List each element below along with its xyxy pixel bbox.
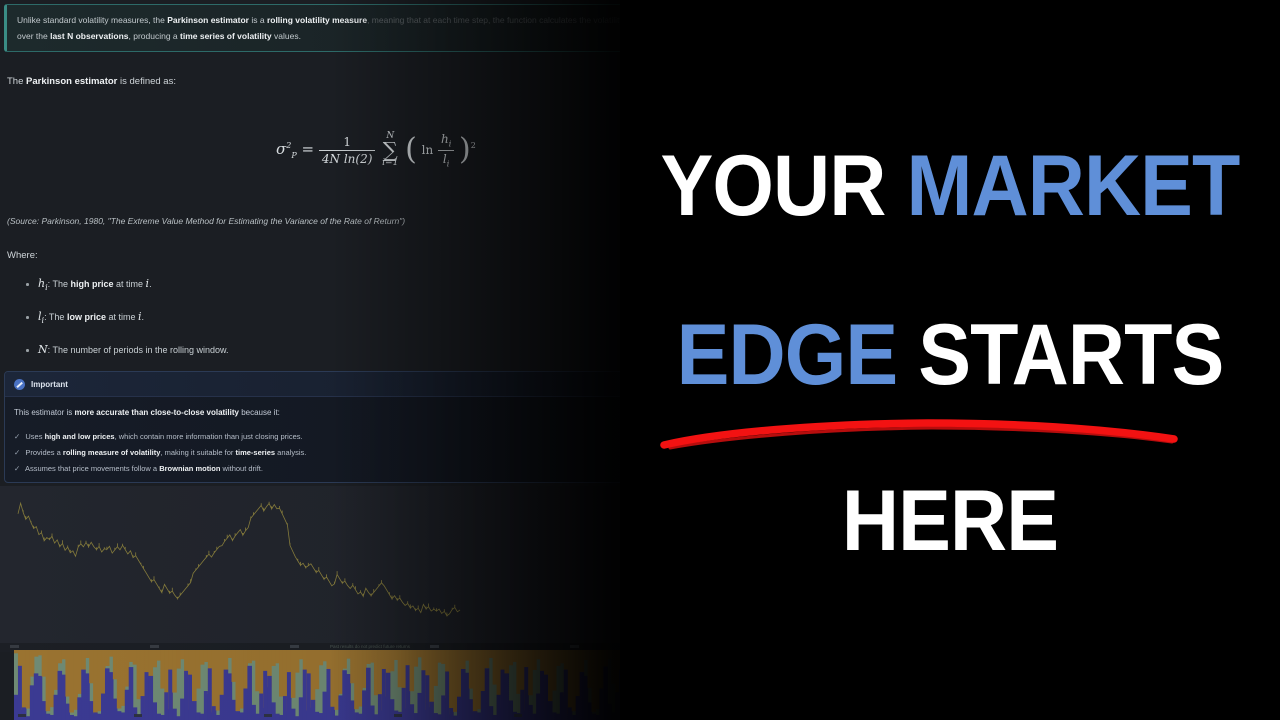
variable-desc-a: : The number of periods in the rolling w…	[48, 345, 229, 355]
important-callout-header: Important	[5, 372, 709, 397]
variable-definitions-list: hi: The high price at time i. li: The lo…	[24, 278, 229, 373]
variable-desc-c: at time	[114, 279, 146, 289]
list-item: li: The low price at time i.	[24, 311, 229, 327]
red-brush-underline-svg	[660, 415, 1180, 455]
headline-word-edge: EDGE	[677, 307, 898, 403]
note-line2-seg3: values.	[272, 31, 301, 41]
headline-line-2: EDGE STARTS	[646, 312, 1253, 398]
formula-ratio-denominator: li	[438, 151, 454, 168]
check-icon: ✓	[14, 464, 20, 473]
important-checklist: ✓ Uses high and low prices, which contai…	[14, 429, 700, 477]
list-item: ✓ Assumes that price movements follow a …	[14, 461, 700, 477]
info-slash-icon	[14, 379, 25, 390]
important-callout: Important This estimator is more accurat…	[4, 371, 710, 483]
check-icon: ✓	[14, 432, 20, 441]
lead-in-strong: Parkinson estimator	[26, 76, 117, 87]
variable-desc-e: .	[149, 279, 152, 289]
formula-sum-symbol: ∑	[382, 141, 398, 159]
variable-symbol: hi	[38, 277, 48, 290]
variable-desc-b: high price	[71, 279, 114, 289]
formula-sigma-subscript: P	[291, 151, 296, 160]
list-item: ✓ Uses high and low prices, which contai…	[14, 429, 700, 445]
estimator-definition-lead-in: The Parkinson estimator is defined as:	[7, 76, 176, 87]
formula-ratio: hi li	[438, 132, 454, 168]
variable-desc-a: : The	[44, 312, 67, 322]
check-icon: ✓	[14, 448, 20, 457]
note-line2-strong1: last N observations	[50, 31, 128, 41]
formula-sigma: σ	[276, 140, 286, 158]
list-item: ✓ Provides a rolling measure of volatili…	[14, 445, 700, 461]
important-callout-title: Important	[31, 380, 68, 389]
formula-summation: N ∑ i=1	[382, 132, 398, 168]
title-overlay: YOUR MARKET EDGE STARTS HERE	[620, 0, 1280, 720]
formula-exponent: 2	[471, 141, 476, 150]
variable-desc-e: .	[142, 312, 145, 322]
headline-word-here: HERE	[842, 473, 1058, 569]
headline-line-1: YOUR MARKET	[646, 143, 1253, 229]
where-label: Where:	[7, 250, 38, 261]
strip-caption: Past results do not predict future retur…	[330, 644, 410, 649]
list-item: N: The number of periods in the rolling …	[24, 344, 229, 356]
headline-line-3: HERE	[646, 478, 1253, 564]
variable-desc-b: low price	[67, 312, 106, 322]
note-line1-faded: , meaning that at each time step, the fu…	[367, 15, 624, 25]
note-line2-strong2: time series of volatility	[180, 31, 272, 41]
note-line2-seg2: , producing a	[129, 31, 181, 41]
variable-desc-a: : The	[48, 279, 71, 289]
headline-word-your: YOUR	[661, 138, 886, 234]
formula-ln: ln	[422, 143, 434, 157]
important-callout-body: This estimator is more accurate than clo…	[5, 397, 709, 477]
note-line1-seg1: Unlike standard volatility measures, the	[17, 15, 167, 25]
note-line1-seg2: is a	[249, 15, 267, 25]
important-intro: This estimator is more accurate than clo…	[14, 407, 700, 418]
headline-word-starts: STARTS	[918, 307, 1223, 403]
note-line2-seg1: over the	[17, 31, 50, 41]
list-item: hi: The high price at time i.	[24, 278, 229, 294]
formula-lhs: σ2P	[276, 140, 297, 158]
price-chart-panel	[0, 486, 700, 643]
video-frame: Unlike standard volatility measures, the…	[0, 0, 1280, 720]
parkinson-estimator-formula: σ2P = 1 4N ln(2) N ∑ i=1 ( ln hi li )2	[276, 132, 476, 168]
note-line1-strong2: rolling volatility measure	[267, 15, 367, 25]
lead-in-seg1: The	[7, 76, 26, 87]
formula-ratio-numerator: hi	[438, 132, 454, 150]
variable-desc-c: at time	[106, 312, 138, 322]
formula-source-citation: (Source: Parkinson, 1980, "The Extreme V…	[7, 216, 405, 226]
note-line1-strong1: Parkinson estimator	[167, 15, 249, 25]
formula-paren-open: (	[405, 137, 417, 163]
formula-numerator: 1	[319, 135, 376, 151]
lead-in-seg2: is defined as:	[117, 76, 176, 87]
formula-sigma-exponent: 2	[286, 141, 291, 150]
formula-fraction: 1 4N ln(2)	[319, 135, 376, 166]
formula-paren-close: )	[459, 137, 471, 163]
formula-equals: =	[302, 140, 315, 158]
formula-denominator: 4N ln(2)	[319, 151, 376, 166]
headline-word-market: MARKET	[907, 138, 1240, 234]
red-brush-underline	[660, 415, 1180, 455]
variable-symbol: N	[38, 343, 48, 356]
formula-sum-lower: i=1	[382, 158, 398, 168]
price-chart-svg	[0, 486, 700, 643]
